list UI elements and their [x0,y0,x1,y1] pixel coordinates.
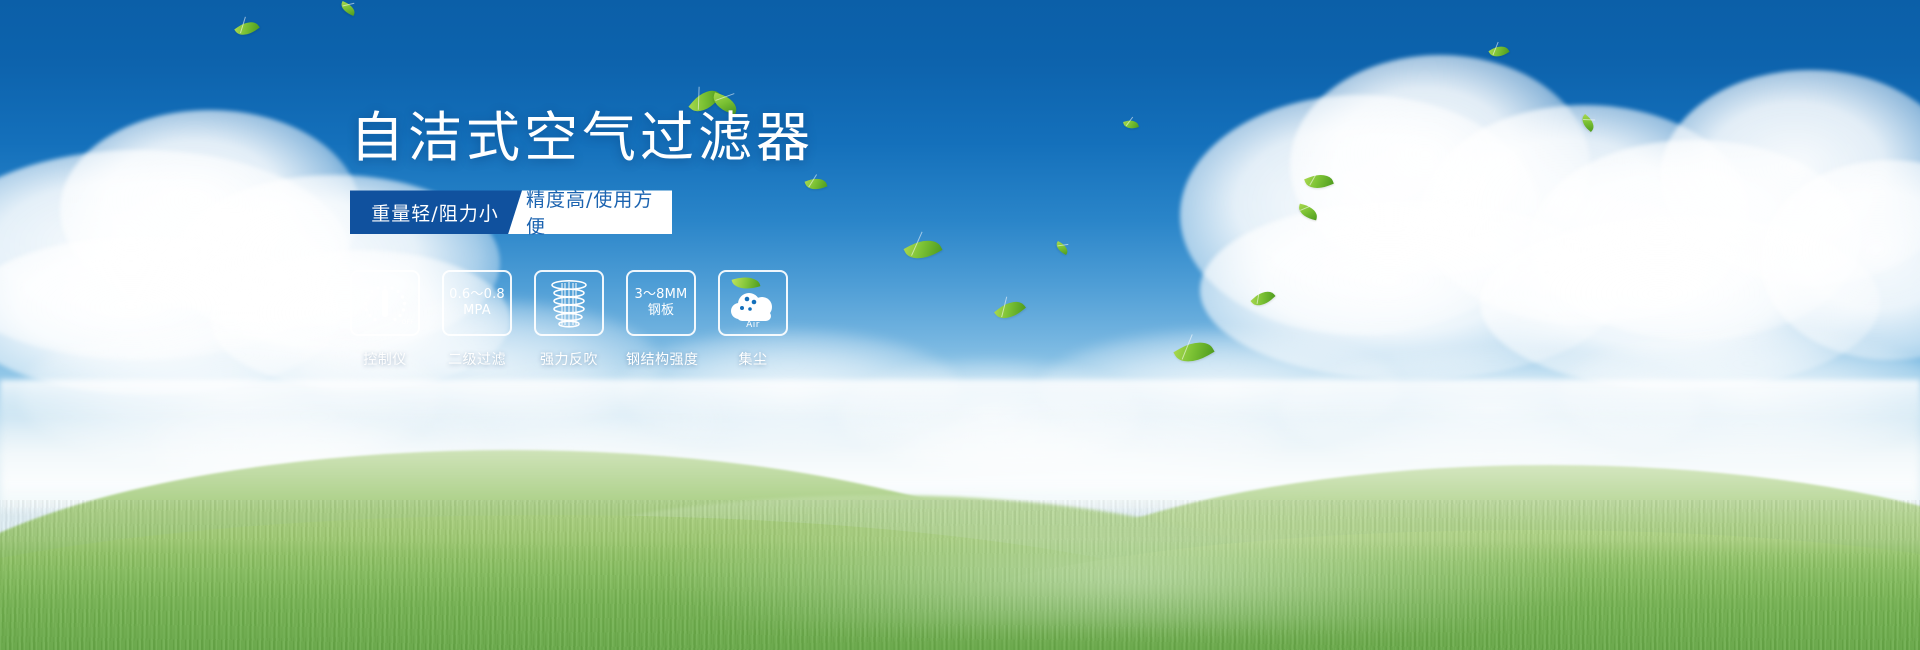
feature-box: 0.6～0.8 MPA [442,270,512,336]
feature-item: 0.6～0.8 MPA 二级过滤 [442,270,512,369]
tagline-left: 重量轻/阻力小 [350,190,522,234]
feature-caption: 强力反吹 [534,349,604,369]
filter-coil-icon [545,277,593,329]
tagline-ribbon: 重量轻/阻力小 精度高/使用方便 [350,190,672,234]
feature-item: Air 集尘 [718,270,788,369]
feature-box: NO OFF [350,270,420,336]
feature-caption: 集尘 [718,349,788,369]
feature-item: 3～8MM 钢板 钢结构强度 [626,270,696,369]
banner-content: 自洁式空气过滤器 重量轻/阻力小 精度高/使用方便 [350,108,910,369]
air-cloud-icon: Air [725,278,781,328]
page-title: 自洁式空气过滤器 [350,108,910,168]
feature-icon-row: NO OFF 控制仪 0.6～0.8 MPA 二级过滤 [350,270,910,369]
pressure-value-icon: 0.6～0.8 MPA [449,287,505,320]
steel-plate-icon: 3～8MM 钢板 [635,287,688,320]
control-gauge-icon: NO OFF [358,278,412,328]
feature-caption: 钢结构强度 [626,349,696,369]
feature-item: NO OFF 控制仪 [350,270,420,369]
feature-box [534,270,604,336]
gauge-off-label: OFF [401,319,414,326]
feature-item: 强力反吹 [534,270,604,369]
grass-field-layer [0,380,1920,650]
grass-highlight [672,500,1574,630]
gauge-on-label: NO [358,304,368,311]
feature-box: Air [718,270,788,336]
field-horizon-seam [0,380,1920,420]
product-hero-banner: 自洁式空气过滤器 重量轻/阻力小 精度高/使用方便 [0,0,1920,650]
feature-box: 3～8MM 钢板 [626,270,696,336]
air-label: Air [725,320,781,330]
tagline-right: 精度高/使用方便 [508,190,672,234]
feature-caption: 控制仪 [350,349,420,369]
feature-caption: 二级过滤 [442,349,512,369]
